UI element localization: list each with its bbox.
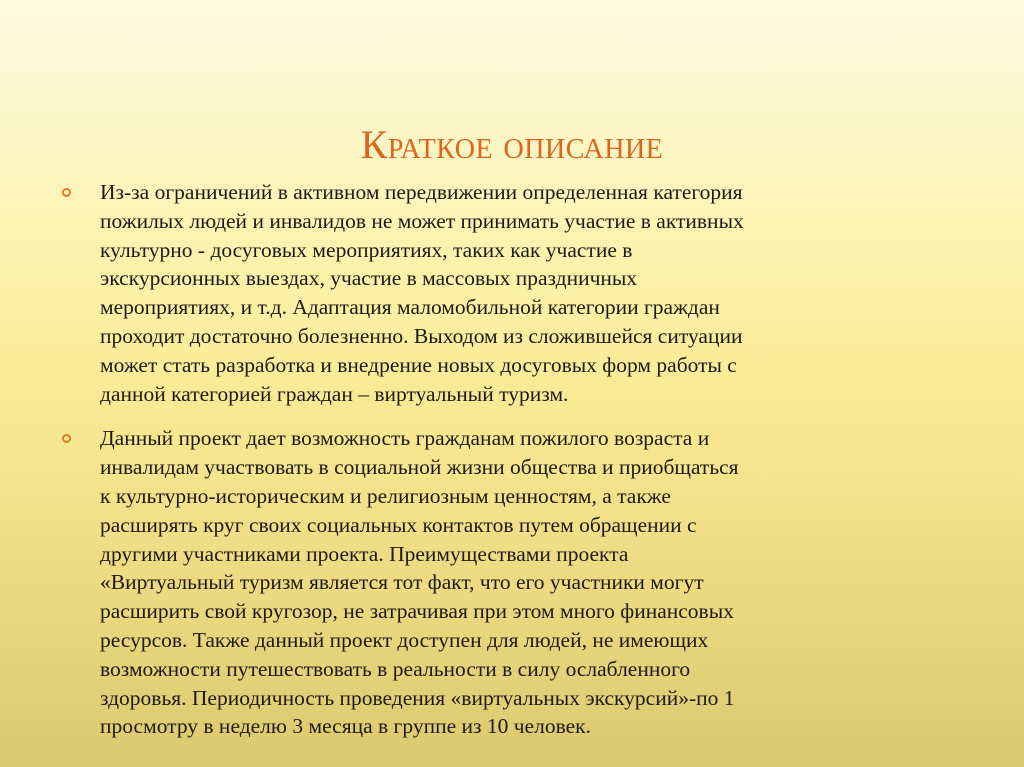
text-line: Данный проект дает возможность гражданам… [100,424,916,453]
list-item: Данный проект дает возможность гражданам… [56,424,916,741]
text-line: может стать разработка и внедрение новых… [100,351,916,380]
text-line: данной категорией граждан – виртуальный … [100,380,916,409]
text-line: пожилых людей и инвалидов не может прини… [100,207,916,236]
list-item-text: Из-за ограничений в активном передвижени… [100,178,916,408]
text-line: к культурно-историческим и религиозным ц… [100,482,916,511]
text-line: просмотру в неделю 3 месяца в группе из … [100,712,916,741]
text-line: расширить свой кругозор, не затрачивая п… [100,597,916,626]
text-line: расширять круг своих социальных контакто… [100,511,916,540]
list-item: Из-за ограничений в активном передвижени… [56,178,916,408]
text-line: другими участниками проекта. Преимуществ… [100,540,916,569]
text-line: ресурсов. Также данный проект доступен д… [100,626,916,655]
page-title: Краткое описание [0,123,1024,167]
text-line: инвалидам участвовать в социальной жизни… [100,453,916,482]
bullet-list: Из-за ограничений в активном передвижени… [56,178,916,741]
text-line: культурно - досуговых мероприятиях, таки… [100,236,916,265]
list-item-text: Данный проект дает возможность гражданам… [100,424,916,741]
text-line: Из-за ограничений в активном передвижени… [100,178,916,207]
text-line: проходит достаточно болезненно. Выходом … [100,322,916,351]
ring-bullet-icon [62,188,71,197]
ring-bullet-icon [62,434,71,443]
text-line: мероприятиях, и т.д. Адаптация маломобил… [100,293,916,322]
presentation-slide: Краткое описание Из-за ограничений в акт… [0,0,1024,767]
text-line: возможности путешествовать в реальности … [100,655,916,684]
text-line: здоровья. Периодичность проведения «вирт… [100,684,916,713]
text-line: экскурсионных выездах, участие в массовы… [100,264,916,293]
text-line: «Виртуальный туризм является тот факт, ч… [100,568,916,597]
